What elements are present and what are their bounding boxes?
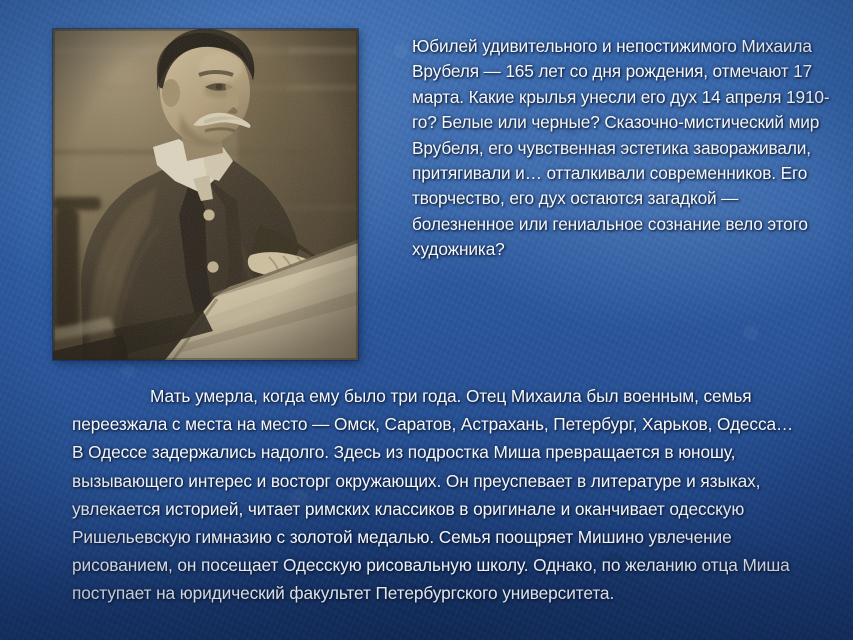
presentation-slide: Юбилей удивительного и непостижимого Мих… [0,0,853,640]
intro-paragraph: Юбилей удивительного и непостижимого Мих… [412,34,842,263]
biography-paragraph: Мать умерла, когда ему было три года. От… [72,382,802,608]
portrait-photo-artwork [53,29,358,360]
portrait-photo [53,29,358,360]
